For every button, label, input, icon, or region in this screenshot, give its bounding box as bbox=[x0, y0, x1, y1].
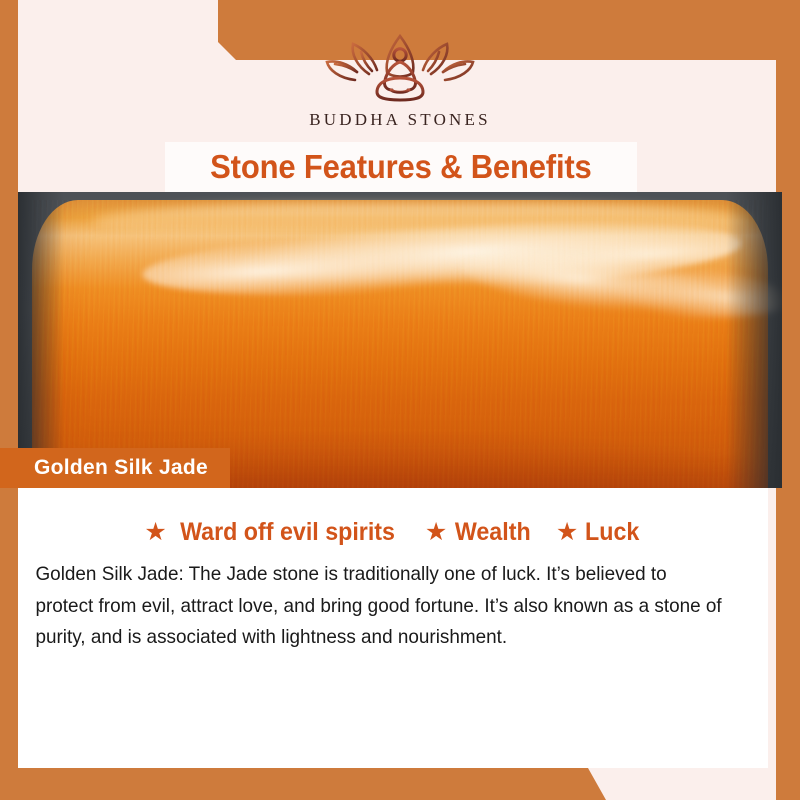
photo-right-vignette bbox=[726, 192, 782, 488]
page-title: Stone Features & Benefits bbox=[210, 148, 591, 186]
benefits-list: ★ Ward off evil spirits ★ Wealth ★ Luck bbox=[18, 518, 768, 547]
benefit-item: ★ Wealth bbox=[425, 518, 534, 547]
benefit-label: Luck bbox=[585, 518, 639, 547]
star-icon: ★ bbox=[144, 520, 166, 545]
star-icon: ★ bbox=[556, 520, 578, 545]
stone-name-label: Golden Silk Jade bbox=[34, 456, 208, 480]
stone-benefits-infographic: BUDDHA STONES Stone Features & Benefits … bbox=[0, 0, 800, 800]
content-panel: ★ Ward off evil spirits ★ Wealth ★ Luck … bbox=[18, 500, 768, 664]
star-icon: ★ bbox=[425, 520, 447, 545]
stone-description: Golden Silk Jade: The Jade stone is trad… bbox=[18, 559, 746, 654]
stone-photo bbox=[18, 192, 782, 488]
photo-left-vignette bbox=[18, 192, 64, 488]
title-banner: Stone Features & Benefits bbox=[165, 142, 637, 192]
benefit-item: ★ Luck bbox=[556, 518, 642, 547]
benefit-label: Ward off evil spirits bbox=[180, 518, 395, 547]
stone-name-banner: Golden Silk Jade bbox=[0, 448, 230, 488]
benefit-label: Wealth bbox=[455, 518, 531, 547]
benefit-item: ★ Ward off evil spirits bbox=[144, 518, 402, 547]
logo: BUDDHA STONES bbox=[309, 28, 491, 130]
stone-body bbox=[32, 200, 768, 488]
lotus-meditation-icon bbox=[315, 28, 485, 106]
stone-grain-texture bbox=[32, 200, 768, 488]
brand-wordmark: BUDDHA STONES bbox=[309, 110, 491, 130]
